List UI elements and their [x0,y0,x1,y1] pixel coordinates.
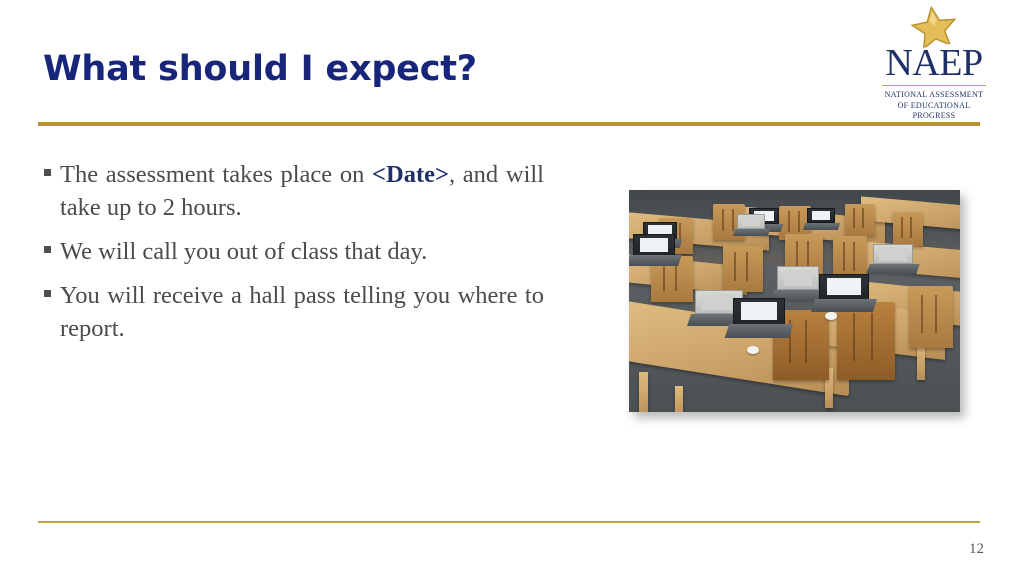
photo-laptop-keyboard [867,264,920,274]
photo-chair [837,302,895,380]
photo-laptop-screen [633,234,675,256]
photo-laptop-keyboard [732,229,769,236]
photo-chair [845,204,875,236]
list-item: We will call you out of class that day. [44,235,544,268]
photo-laptop [807,208,835,230]
photo-laptop-keyboard [725,324,794,338]
logo-tagline-line-3: PROGRESS [878,111,990,122]
photo-laptop [819,274,869,312]
divider-bottom [38,521,980,523]
photo-laptop-screen [737,214,765,229]
list-item-text: You will receive a hall pass telling you… [60,279,544,345]
photo-laptop-keyboard [629,255,682,266]
photo-laptop [777,266,819,302]
divider-top [38,122,980,126]
photo-mouse [747,346,759,354]
logo-tagline-line-2: OF EDUCATIONAL [878,101,990,112]
classroom-photo [629,190,960,412]
photo-laptop-screen [733,298,785,325]
photo-laptop [873,244,913,274]
list-item-text: The assessment takes place on <Date>, an… [60,158,544,224]
list-item-text: We will call you out of class that day. [60,235,544,268]
photo-chair [893,212,923,246]
photo-chair [909,286,953,348]
logo-wordmark: NAEP [878,44,990,82]
photo-mouse [825,312,837,320]
page-title: What should I expect? [43,49,477,89]
photo-table-leg [639,372,648,412]
star-icon [878,6,990,46]
photo-laptop [633,234,675,266]
photo-laptop [733,298,785,338]
square-bullet-icon [44,169,51,176]
bullet-list: The assessment takes place on <Date>, an… [44,158,544,356]
photo-laptop-keyboard [811,299,877,312]
photo-chair [723,246,763,292]
photo-laptop-screen [777,266,819,290]
list-item: You will receive a hall pass telling you… [44,279,544,345]
square-bullet-icon [44,290,51,297]
photo-laptop [737,214,765,236]
classroom-photo-content [629,190,960,412]
photo-laptop-screen [807,208,835,223]
bullet-1-text-before: The assessment takes place on [60,161,372,188]
slide: What should I expect? NAEP NATIONAL ASSE… [0,0,1018,577]
photo-laptop-screen [873,244,913,264]
list-item: The assessment takes place on <Date>, an… [44,158,544,224]
logo-tagline-line-1: NATIONAL ASSESSMENT [878,90,990,101]
date-placeholder-token: <Date> [372,161,449,188]
page-number: 12 [969,541,984,558]
logo-underline [882,85,986,86]
square-bullet-icon [44,246,51,253]
logo-tagline: NATIONAL ASSESSMENT OF EDUCATIONAL PROGR… [878,90,990,122]
naep-logo: NAEP NATIONAL ASSESSMENT OF EDUCATIONAL … [878,6,990,114]
photo-laptop-keyboard [802,223,839,230]
photo-table-leg [675,386,683,412]
photo-laptop-screen [819,274,869,300]
